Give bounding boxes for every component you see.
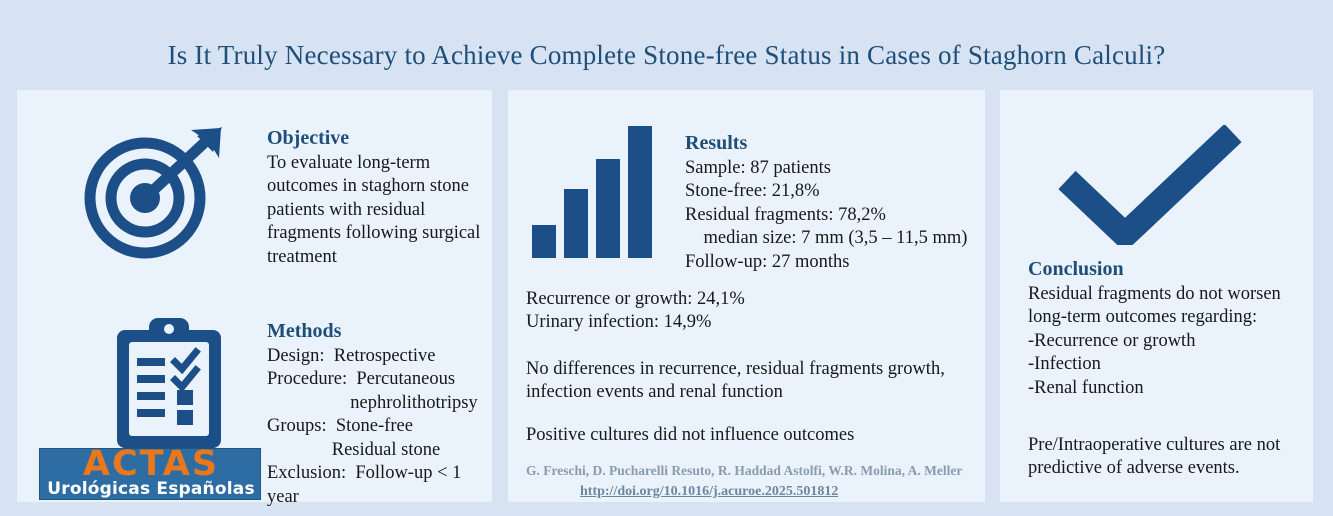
results-stats: Recurrence or growth: 24,1% Urinary infe… (526, 288, 976, 335)
methods-body: Design: Retrospective Procedure: Percuta… (267, 345, 497, 509)
right-panel: Conclusion Residual fragments do not wor… (1000, 90, 1313, 502)
methods-heading: Methods (267, 320, 497, 344)
target-arrow-icon (79, 122, 229, 262)
methods-text-block: Methods Design: Retrospective Procedure:… (267, 320, 497, 509)
cultures-predictive-note: Pre/Intraoperative cultures are not pred… (1028, 434, 1308, 481)
authors-text: G. Freschi, D. Pucharelli Resuto, R. Had… (526, 463, 962, 478)
results-body: Sample: 87 patients Stone-free: 21,8% Re… (685, 157, 985, 274)
conclusion-body: Residual fragments do not worsen long-te… (1028, 283, 1308, 400)
results-heading: Results (685, 132, 985, 156)
conclusion-heading: Conclusion (1028, 258, 1308, 282)
actas-logo-subtitle: Urológicas Españolas (40, 479, 261, 499)
clipboard-checklist-icon (109, 312, 229, 452)
middle-panel: Results Sample: 87 patients Stone-free: … (508, 90, 985, 502)
objective-body: To evaluate long-term outcomes in stagho… (267, 152, 492, 269)
results-cultures-note: Positive cultures did not influence outc… (526, 424, 976, 447)
bar-chart-icon (528, 126, 658, 258)
results-section: Results Sample: 87 patients Stone-free: … (508, 110, 985, 280)
results-text-block: Results Sample: 87 patients Stone-free: … (685, 132, 985, 274)
page-title: Is It Truly Necessary to Achieve Complet… (0, 40, 1333, 71)
results-no-differences-note: No differences in recurrence, residual f… (526, 358, 976, 405)
objective-heading: Objective (267, 127, 492, 151)
objective-section: Objective To evaluate long-term outcomes… (17, 110, 492, 270)
objective-text-block: Objective To evaluate long-term outcomes… (267, 127, 492, 269)
authors-line: G. Freschi, D. Pucharelli Resuto, R. Had… (526, 461, 978, 502)
actas-logo: ACTAS Urológicas Españolas (39, 448, 261, 500)
left-panel: Objective To evaluate long-term outcomes… (17, 90, 492, 502)
checkmark-icon (1055, 125, 1245, 245)
graphical-abstract: Is It Truly Necessary to Achieve Complet… (0, 0, 1333, 516)
doi-link[interactable]: http://doi.org/10.1016/j.acuroe.2025.501… (580, 482, 838, 502)
conclusion-text-block: Conclusion Residual fragments do not wor… (1028, 258, 1308, 400)
